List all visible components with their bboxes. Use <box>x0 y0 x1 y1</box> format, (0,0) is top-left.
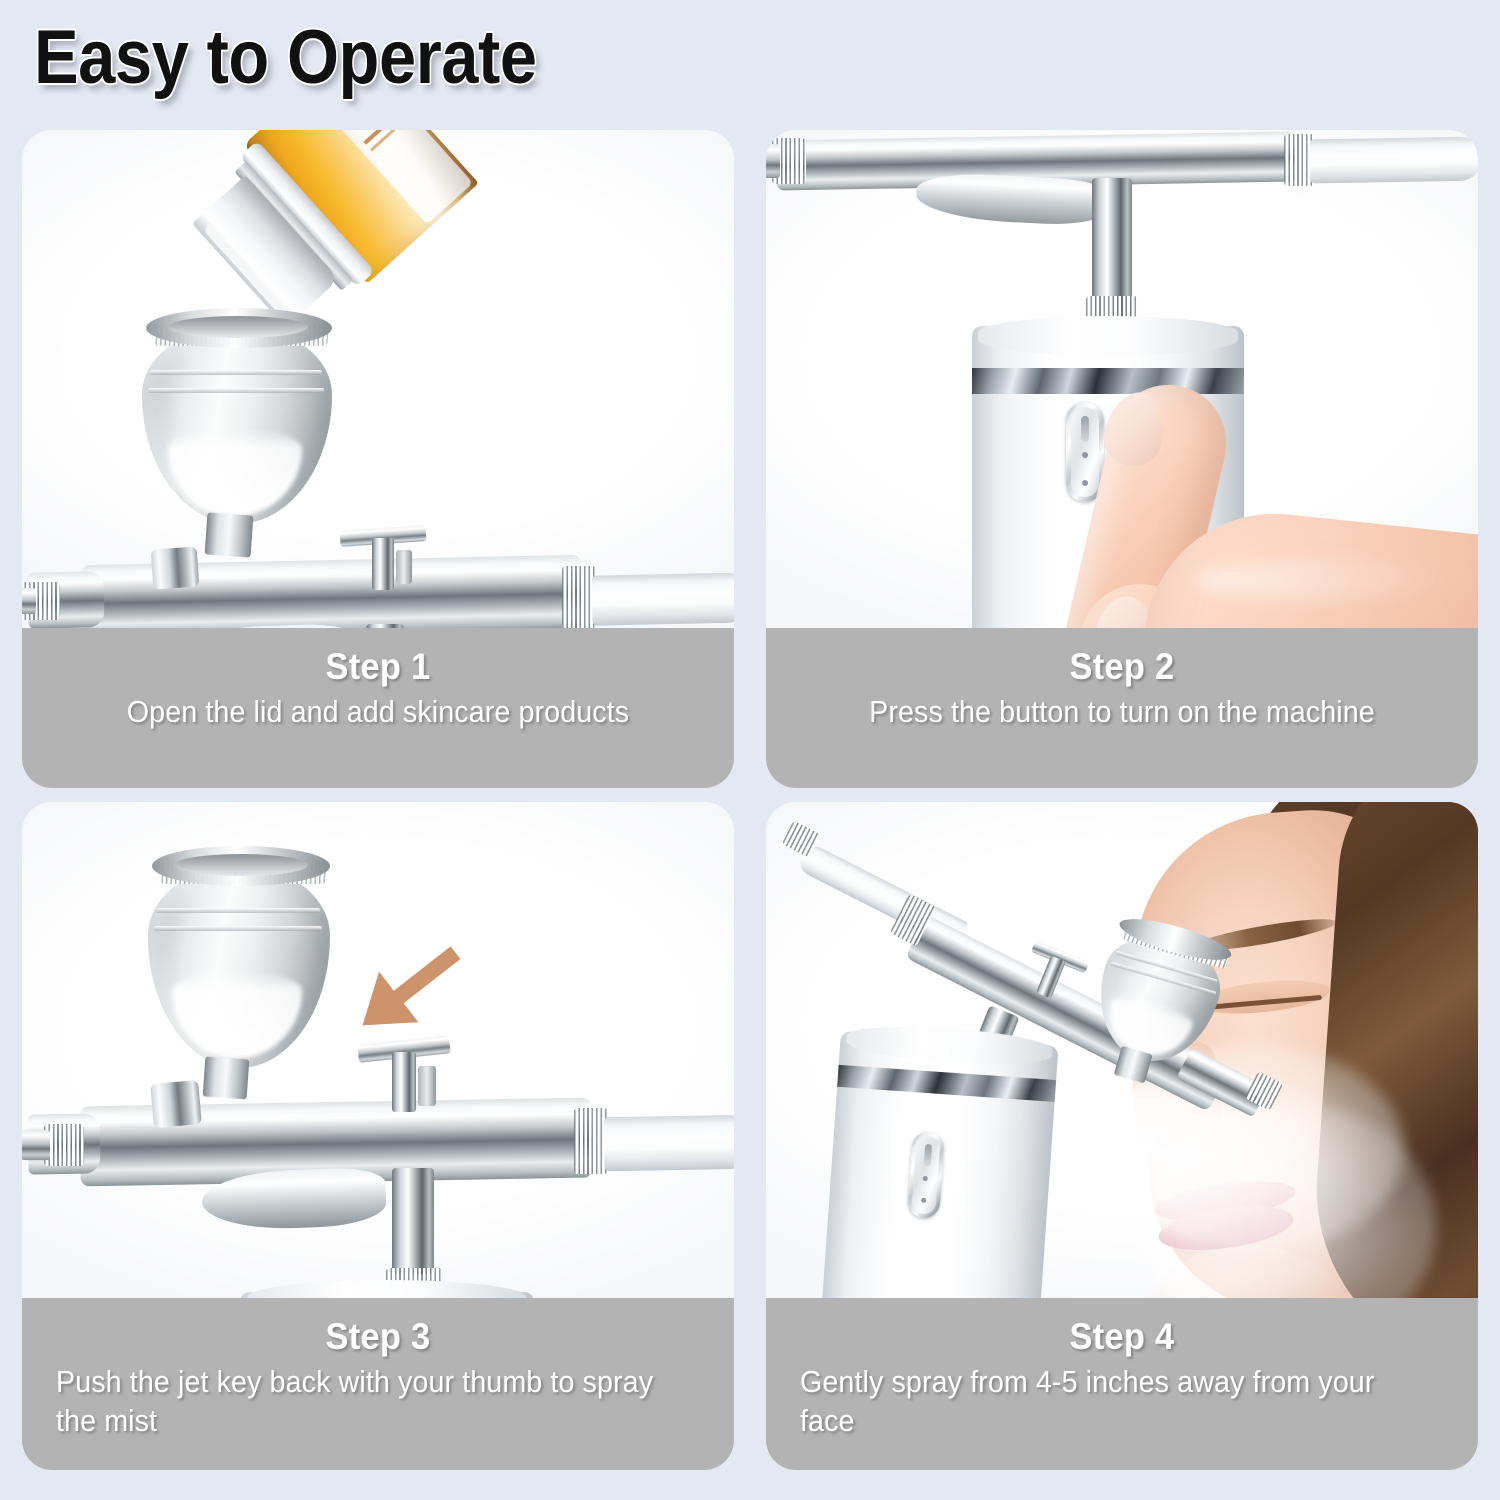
direction-arrow-icon <box>344 924 474 1054</box>
step-card-4: Step 4 Gently spray from 4-5 inches away… <box>766 802 1478 1470</box>
needle-cap <box>22 588 36 614</box>
step-1-description: Open the lid and add skincare products <box>75 693 680 732</box>
step-4-photo <box>766 802 1478 1298</box>
needle-cap <box>22 1130 50 1160</box>
step-3-description: Push the jet key back with your thumb to… <box>56 1363 661 1441</box>
step-4-caption: Step 4 Gently spray from 4-5 inches away… <box>766 1298 1478 1470</box>
barrel-knurl-ring <box>574 1108 608 1174</box>
hand <box>1084 370 1478 628</box>
step-2-caption: Step 2 Press the button to turn on the m… <box>766 628 1478 788</box>
step-3-label: Step 3 <box>79 1316 678 1358</box>
step-card-2: Step 2 Press the button to turn on the m… <box>766 130 1478 788</box>
step-1-photo <box>22 130 734 628</box>
steps-grid: Step 1 Open the lid and add skincare pro… <box>22 130 1478 1470</box>
cup-socket <box>150 1080 202 1128</box>
step-4-description: Gently spray from 4-5 inches away from y… <box>800 1363 1405 1441</box>
paint-cup <box>140 842 340 1092</box>
paint-cup <box>134 302 344 552</box>
cup-socket <box>151 546 200 589</box>
jet-key[interactable] <box>340 528 426 590</box>
airbrush-handle <box>591 572 734 625</box>
infographic-page: Easy to Operate <box>0 0 1500 1500</box>
jet-key[interactable] <box>358 1040 454 1112</box>
step-1-caption: Step 1 Open the lid and add skincare pro… <box>22 628 734 788</box>
airbrush-trigger[interactable] <box>352 624 418 628</box>
power-button[interactable] <box>907 1131 945 1219</box>
step-2-photo <box>766 130 1478 628</box>
nozzle-knurl <box>44 1124 84 1166</box>
step-1-label: Step 1 <box>79 646 678 688</box>
step-card-1: Step 1 Open the lid and add skincare pro… <box>22 130 734 788</box>
base-unit <box>240 1292 534 1298</box>
step-4-label: Step 4 <box>823 1316 1422 1358</box>
airbrush-handle <box>604 1115 734 1172</box>
step-2-label: Step 2 <box>823 646 1422 688</box>
step-3-photo <box>22 802 734 1298</box>
barrel-knurl-ring <box>562 566 596 628</box>
airbrush-handle <box>1310 137 1478 184</box>
step-3-caption: Step 3 Push the jet key back with your t… <box>22 1298 734 1470</box>
step-2-description: Press the button to turn on the machine <box>819 693 1424 732</box>
step-card-3: Step 3 Push the jet key back with your t… <box>22 802 734 1470</box>
airbrush-trigger[interactable] <box>378 1168 450 1298</box>
page-title: Easy to Operate <box>34 14 537 101</box>
needle-cap <box>766 144 780 178</box>
